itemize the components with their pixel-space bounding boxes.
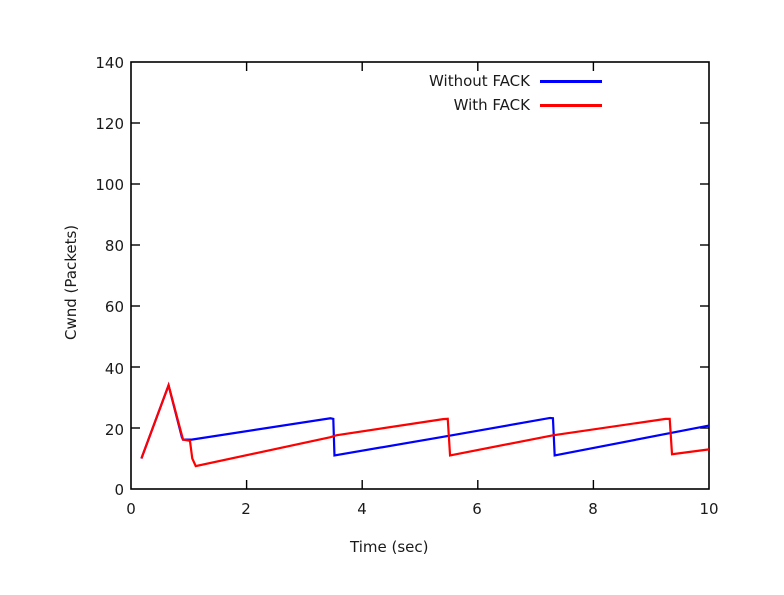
data-series-layer: [141, 385, 709, 466]
series-line-with-fack: [141, 385, 709, 466]
plot-canvas: [0, 0, 784, 595]
chart-figure: 140 120 100 80 60 40 20 0 0 2 4 6 8 10 T…: [0, 0, 784, 595]
